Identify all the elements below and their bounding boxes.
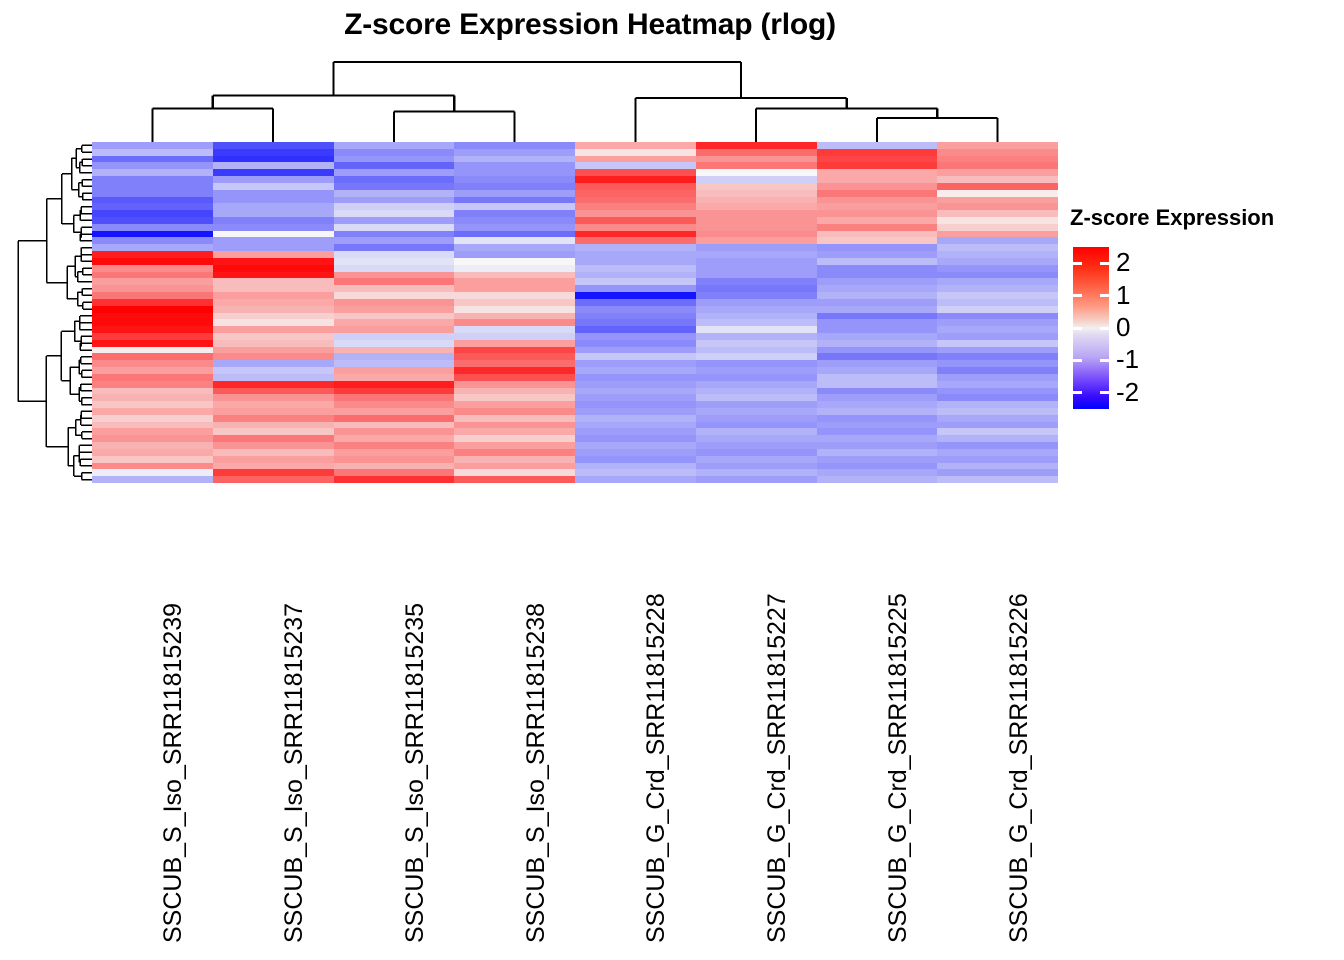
- heatmap-cell: [817, 367, 938, 374]
- heatmap-cell: [334, 306, 455, 313]
- heatmap-cell: [334, 401, 455, 408]
- heatmap-cell: [937, 374, 1058, 381]
- colorbar-gradient: [1073, 247, 1109, 409]
- heatmap-cell: [817, 278, 938, 285]
- heatmap-cell: [334, 394, 455, 401]
- heatmap-cell: [937, 156, 1058, 163]
- heatmap-cell: [213, 381, 334, 388]
- heatmap-cell: [696, 183, 817, 190]
- heatmap-cell: [937, 469, 1058, 476]
- heatmap-cell: [696, 169, 817, 176]
- heatmap-cell: [575, 156, 696, 163]
- heatmap-cell: [817, 415, 938, 422]
- heatmap-cell: [937, 149, 1058, 156]
- heatmap-cell: [213, 142, 334, 149]
- heatmap-cell: [92, 258, 213, 265]
- heatmap-cell: [213, 231, 334, 238]
- heatmap-cell: [454, 299, 575, 306]
- heatmap-cell: [213, 449, 334, 456]
- heatmap-cell: [454, 415, 575, 422]
- heatmap-cell: [696, 367, 817, 374]
- heatmap-cell: [213, 326, 334, 333]
- heatmap-cell: [213, 203, 334, 210]
- heatmap-cell: [575, 353, 696, 360]
- heatmap-cell: [213, 156, 334, 163]
- colorbar-tick-label: -2: [1116, 379, 1139, 405]
- heatmap-cell: [213, 224, 334, 231]
- heatmap-cell: [334, 422, 455, 429]
- heatmap-cell: [575, 224, 696, 231]
- heatmap-cell: [937, 347, 1058, 354]
- heatmap-cell: [92, 388, 213, 395]
- heatmap-cell: [575, 394, 696, 401]
- heatmap-cell: [937, 210, 1058, 217]
- heatmap-cell: [696, 285, 817, 292]
- column-label: SSCUB_G_Crd_SRR11815227: [767, 483, 787, 943]
- heatmap-cell: [937, 169, 1058, 176]
- heatmap-cell: [817, 149, 938, 156]
- heatmap-cell: [334, 278, 455, 285]
- heatmap-cell: [334, 224, 455, 231]
- column-dendrogram: [92, 56, 1058, 142]
- heatmap-cell: [213, 374, 334, 381]
- heatmap-cell: [92, 142, 213, 149]
- heatmap-cell: [213, 394, 334, 401]
- heatmap-cell: [696, 278, 817, 285]
- heatmap-cell: [575, 463, 696, 470]
- heatmap-cell: [696, 258, 817, 265]
- heatmap-cell: [817, 169, 938, 176]
- heatmap-cell: [334, 469, 455, 476]
- heatmap-cell: [213, 251, 334, 258]
- heatmap-cell: [334, 183, 455, 190]
- heatmap-cell: [213, 388, 334, 395]
- heatmap-cell: [817, 313, 938, 320]
- heatmap-cell: [937, 326, 1058, 333]
- heatmap-cell: [92, 463, 213, 470]
- heatmap-grid[interactable]: [92, 142, 1058, 483]
- heatmap-cell: [213, 265, 334, 272]
- column-label: SSCUB_S_Iso_SRR11815237: [284, 483, 304, 943]
- heatmap-cell: [213, 299, 334, 306]
- heatmap-cell: [454, 251, 575, 258]
- column-label: SSCUB_S_Iso_SRR11815238: [526, 483, 546, 943]
- heatmap-cell: [454, 169, 575, 176]
- heatmap-cell: [696, 347, 817, 354]
- heatmap-cell: [454, 278, 575, 285]
- heatmap-cell: [696, 299, 817, 306]
- heatmap-cell: [213, 292, 334, 299]
- heatmap-cell: [92, 333, 213, 340]
- heatmap-cell: [575, 374, 696, 381]
- heatmap-cell: [696, 251, 817, 258]
- heatmap-cell: [454, 272, 575, 279]
- colorbar-tick: [1100, 359, 1109, 362]
- heatmap-cell: [937, 162, 1058, 169]
- heatmap-cell: [817, 388, 938, 395]
- heatmap-cell: [575, 476, 696, 483]
- heatmap-cell: [575, 285, 696, 292]
- heatmap-cell: [937, 258, 1058, 265]
- heatmap-cell: [937, 353, 1058, 360]
- heatmap-cell: [334, 435, 455, 442]
- heatmap-cell: [817, 258, 938, 265]
- colorbar-tick: [1073, 359, 1082, 362]
- heatmap-cell: [454, 183, 575, 190]
- heatmap-cell: [213, 197, 334, 204]
- heatmap-cell: [334, 319, 455, 326]
- heatmap-cell: [937, 428, 1058, 435]
- heatmap-cell: [696, 408, 817, 415]
- heatmap-cell: [575, 381, 696, 388]
- heatmap-cell: [937, 244, 1058, 251]
- heatmap-cell: [454, 374, 575, 381]
- heatmap-cell: [817, 231, 938, 238]
- heatmap-cell: [937, 394, 1058, 401]
- heatmap-cell: [213, 217, 334, 224]
- heatmap-cell: [937, 333, 1058, 340]
- heatmap-cell: [334, 265, 455, 272]
- heatmap-cell: [92, 299, 213, 306]
- heatmap-cell: [575, 162, 696, 169]
- heatmap-cell: [696, 374, 817, 381]
- heatmap-cell: [937, 415, 1058, 422]
- heatmap-cell: [817, 333, 938, 340]
- heatmap-cell: [454, 231, 575, 238]
- heatmap-cell: [937, 306, 1058, 313]
- heatmap-cell: [575, 415, 696, 422]
- heatmap-cell: [334, 299, 455, 306]
- heatmap-cell: [817, 183, 938, 190]
- heatmap-cell: [334, 340, 455, 347]
- heatmap-cell: [937, 251, 1058, 258]
- heatmap-cell: [937, 463, 1058, 470]
- heatmap-cell: [454, 333, 575, 340]
- heatmap-cell: [92, 156, 213, 163]
- heatmap-cell: [454, 449, 575, 456]
- heatmap-cell: [937, 340, 1058, 347]
- heatmap-cell: [454, 463, 575, 470]
- heatmap-cell: [213, 333, 334, 340]
- heatmap-cell: [213, 401, 334, 408]
- heatmap-cell: [937, 388, 1058, 395]
- heatmap-cell: [575, 408, 696, 415]
- heatmap-cell: [817, 319, 938, 326]
- colorbar-tick-label: -1: [1116, 346, 1139, 372]
- heatmap-cell: [575, 340, 696, 347]
- heatmap-cell: [92, 176, 213, 183]
- heatmap-cell: [817, 210, 938, 217]
- heatmap-cell: [334, 388, 455, 395]
- heatmap-cell: [817, 360, 938, 367]
- column-label: SSCUB_G_Crd_SRR11815228: [646, 483, 666, 943]
- heatmap-cell: [696, 415, 817, 422]
- heatmap-cell: [454, 176, 575, 183]
- heatmap-cell: [92, 408, 213, 415]
- heatmap-cell: [454, 381, 575, 388]
- heatmap-cell: [575, 299, 696, 306]
- heatmap-cell: [92, 442, 213, 449]
- heatmap-cell: [213, 415, 334, 422]
- heatmap-cell: [92, 285, 213, 292]
- colorbar-tick: [1100, 262, 1109, 265]
- heatmap-cell: [817, 374, 938, 381]
- heatmap-cell: [937, 278, 1058, 285]
- heatmap-cell: [334, 449, 455, 456]
- heatmap-cell: [454, 428, 575, 435]
- heatmap-cell: [334, 374, 455, 381]
- heatmap-cell: [575, 251, 696, 258]
- heatmap-cell: [92, 326, 213, 333]
- heatmap-cell: [696, 422, 817, 429]
- heatmap-cell: [696, 340, 817, 347]
- heatmap-cell: [817, 224, 938, 231]
- heatmap-cell: [334, 367, 455, 374]
- heatmap-cell: [696, 162, 817, 169]
- heatmap-cell: [213, 408, 334, 415]
- heatmap-cell: [575, 442, 696, 449]
- heatmap-cell: [92, 428, 213, 435]
- heatmap-cell: [334, 272, 455, 279]
- heatmap-cell: [696, 210, 817, 217]
- heatmap-cell: [817, 456, 938, 463]
- heatmap-cell: [92, 381, 213, 388]
- heatmap-cell: [696, 381, 817, 388]
- heatmap-cell: [817, 244, 938, 251]
- heatmap-cell: [696, 306, 817, 313]
- colorbar-legend: Z-score Expression 210-1-2: [1070, 205, 1340, 420]
- colorbar-tick: [1100, 294, 1109, 297]
- heatmap-cell: [454, 476, 575, 483]
- heatmap-cell: [817, 326, 938, 333]
- colorbar-tick: [1073, 262, 1082, 265]
- heatmap-cell: [92, 231, 213, 238]
- heatmap-cell: [937, 401, 1058, 408]
- heatmap-cell: [454, 422, 575, 429]
- heatmap-cell: [213, 442, 334, 449]
- heatmap-cell: [575, 237, 696, 244]
- heatmap-cell: [575, 401, 696, 408]
- heatmap-cell: [575, 176, 696, 183]
- heatmap-cell: [454, 217, 575, 224]
- heatmap-cell: [454, 319, 575, 326]
- heatmap-cell: [92, 183, 213, 190]
- heatmap-cell: [334, 326, 455, 333]
- colorbar-tick: [1073, 327, 1082, 330]
- heatmap-cell: [334, 149, 455, 156]
- colorbar-tick-label: 2: [1116, 249, 1130, 275]
- heatmap-cell: [92, 367, 213, 374]
- heatmap-cell: [696, 313, 817, 320]
- heatmap-cell: [696, 449, 817, 456]
- heatmap-cell: [213, 149, 334, 156]
- heatmap-cell: [696, 353, 817, 360]
- heatmap-cell: [937, 422, 1058, 429]
- heatmap-cell: [213, 244, 334, 251]
- heatmap-cell: [92, 203, 213, 210]
- heatmap-cell: [92, 469, 213, 476]
- heatmap-cell: [817, 442, 938, 449]
- heatmap-cell: [92, 224, 213, 231]
- heatmap-cell: [213, 456, 334, 463]
- heatmap-cell: [92, 435, 213, 442]
- heatmap-cell: [334, 333, 455, 340]
- heatmap-cell: [817, 162, 938, 169]
- heatmap-cell: [213, 313, 334, 320]
- heatmap-cell: [334, 347, 455, 354]
- heatmap-cell: [92, 278, 213, 285]
- heatmap-cell: [575, 388, 696, 395]
- heatmap-cell: [696, 319, 817, 326]
- heatmap-cell: [213, 285, 334, 292]
- heatmap-cell: [334, 251, 455, 258]
- heatmap-cell: [696, 360, 817, 367]
- heatmap-cell: [213, 169, 334, 176]
- heatmap-cell: [696, 244, 817, 251]
- heatmap-cell: [92, 401, 213, 408]
- heatmap-cell: [454, 408, 575, 415]
- heatmap-cell: [92, 272, 213, 279]
- heatmap-figure: Z-score Expression Heatmap (rlog) SSCUB_…: [0, 0, 1344, 960]
- heatmap-cell: [937, 237, 1058, 244]
- heatmap-cell: [334, 360, 455, 367]
- heatmap-cell: [92, 237, 213, 244]
- heatmap-cell: [334, 415, 455, 422]
- heatmap-cell: [575, 319, 696, 326]
- heatmap-cell: [817, 272, 938, 279]
- heatmap-cell: [696, 197, 817, 204]
- heatmap-cell: [575, 360, 696, 367]
- heatmap-cell: [454, 313, 575, 320]
- heatmap-cell: [334, 203, 455, 210]
- heatmap-cell: [696, 217, 817, 224]
- heatmap-cell: [937, 190, 1058, 197]
- heatmap-cell: [817, 428, 938, 435]
- heatmap-cell: [334, 476, 455, 483]
- heatmap-cell: [696, 156, 817, 163]
- heatmap-cell: [575, 244, 696, 251]
- heatmap-cell: [213, 176, 334, 183]
- heatmap-cell: [817, 197, 938, 204]
- heatmap-cell: [817, 217, 938, 224]
- heatmap-cell: [696, 149, 817, 156]
- heatmap-cell: [696, 394, 817, 401]
- column-label: SSCUB_G_Crd_SRR11815226: [1009, 483, 1029, 943]
- heatmap-cell: [213, 258, 334, 265]
- heatmap-cell: [334, 456, 455, 463]
- heatmap-cell: [92, 169, 213, 176]
- heatmap-cell: [334, 285, 455, 292]
- colorbar-tick-label: 1: [1116, 282, 1130, 308]
- heatmap-cell: [696, 401, 817, 408]
- heatmap-cell: [575, 203, 696, 210]
- heatmap-cell: [454, 265, 575, 272]
- heatmap-cell: [575, 142, 696, 149]
- heatmap-cell: [937, 367, 1058, 374]
- heatmap-cell: [454, 237, 575, 244]
- heatmap-cell: [334, 353, 455, 360]
- heatmap-cell: [696, 231, 817, 238]
- heatmap-cell: [334, 442, 455, 449]
- heatmap-cell: [575, 265, 696, 272]
- heatmap-cell: [213, 162, 334, 169]
- column-label: SSCUB_G_Crd_SRR11815225: [888, 483, 908, 943]
- heatmap-cell: [817, 292, 938, 299]
- heatmap-cell: [213, 367, 334, 374]
- heatmap-cell: [334, 210, 455, 217]
- heatmap-cell: [817, 176, 938, 183]
- heatmap-cell: [696, 203, 817, 210]
- heatmap-cell: [454, 456, 575, 463]
- heatmap-cell: [213, 463, 334, 470]
- heatmap-cell: [334, 381, 455, 388]
- heatmap-cell: [696, 469, 817, 476]
- heatmap-cell: [696, 237, 817, 244]
- heatmap-cell: [454, 388, 575, 395]
- heatmap-cell: [454, 347, 575, 354]
- heatmap-cell: [454, 469, 575, 476]
- heatmap-cell: [937, 224, 1058, 231]
- heatmap-cell: [696, 292, 817, 299]
- heatmap-cell: [696, 333, 817, 340]
- heatmap-cell: [817, 190, 938, 197]
- heatmap-cell: [213, 278, 334, 285]
- heatmap-cell: [937, 272, 1058, 279]
- heatmap-cell: [575, 422, 696, 429]
- heatmap-cell: [334, 169, 455, 176]
- colorbar-tick-label: 0: [1116, 314, 1130, 340]
- heatmap-cell: [817, 142, 938, 149]
- heatmap-cell: [575, 435, 696, 442]
- heatmap-cell: [575, 272, 696, 279]
- heatmap-cell: [213, 347, 334, 354]
- heatmap-cell: [334, 237, 455, 244]
- heatmap-cell: [575, 367, 696, 374]
- heatmap-cell: [937, 408, 1058, 415]
- heatmap-cell: [817, 306, 938, 313]
- heatmap-cell: [817, 435, 938, 442]
- heatmap-cell: [575, 333, 696, 340]
- heatmap-cell: [92, 374, 213, 381]
- heatmap-cell: [213, 319, 334, 326]
- heatmap-cell: [454, 360, 575, 367]
- heatmap-cell: [937, 142, 1058, 149]
- heatmap-cell: [454, 149, 575, 156]
- heatmap-cell: [92, 210, 213, 217]
- heatmap-cell: [937, 231, 1058, 238]
- heatmap-cell: [696, 176, 817, 183]
- heatmap-cell: [937, 285, 1058, 292]
- heatmap-cell: [92, 353, 213, 360]
- heatmap-cell: [937, 476, 1058, 483]
- heatmap-cell: [454, 190, 575, 197]
- heatmap-cell: [937, 176, 1058, 183]
- heatmap-cell: [454, 442, 575, 449]
- heatmap-cell: [696, 224, 817, 231]
- heatmap-cell: [92, 456, 213, 463]
- heatmap-cell: [937, 381, 1058, 388]
- heatmap-cell: [334, 258, 455, 265]
- heatmap-cell: [937, 319, 1058, 326]
- heatmap-cell: [937, 203, 1058, 210]
- heatmap-cell: [92, 449, 213, 456]
- heatmap-cell: [817, 394, 938, 401]
- heatmap-cell: [454, 224, 575, 231]
- heatmap-cell: [817, 449, 938, 456]
- heatmap-cell: [817, 340, 938, 347]
- heatmap-cell: [817, 422, 938, 429]
- heatmap-cell: [696, 190, 817, 197]
